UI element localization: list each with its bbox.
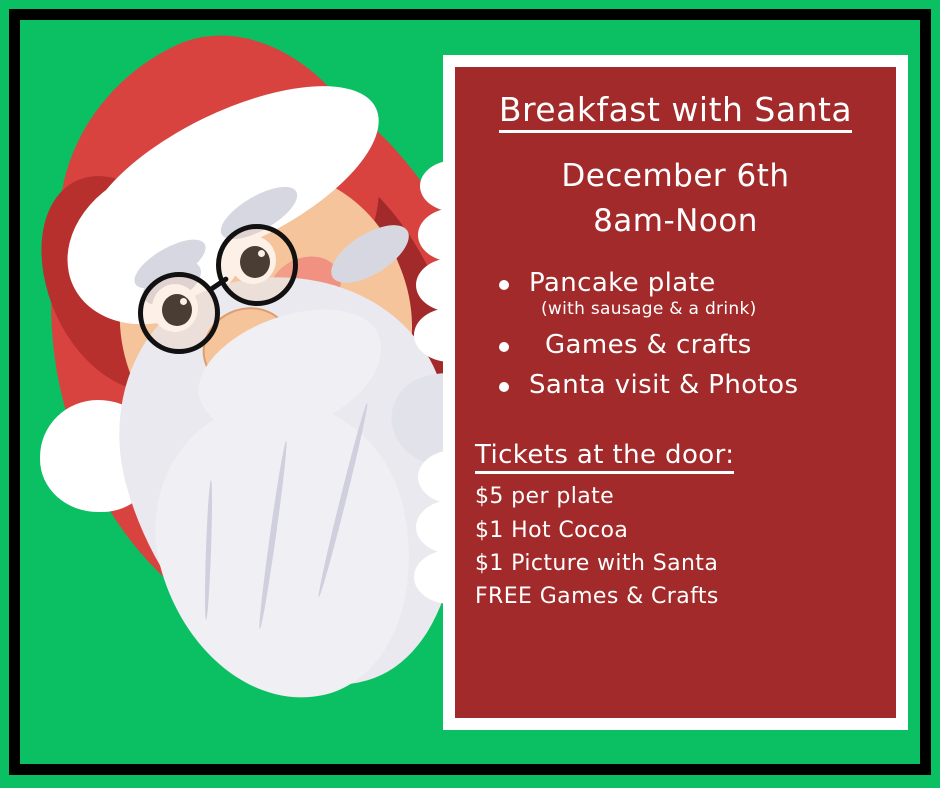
event-card-panel: Breakfast with Santa December 6th 8am-No… bbox=[455, 67, 896, 718]
feature-label: Santa visit & Photos bbox=[529, 370, 798, 400]
santa-glasses-lens-right bbox=[216, 224, 298, 306]
event-date-line-1: December 6th bbox=[475, 157, 876, 197]
bullet-dot-icon bbox=[499, 342, 509, 352]
list-item: Pancake plate (with sausage & a drink) bbox=[475, 268, 876, 320]
list-item: Santa visit & Photos bbox=[475, 370, 876, 400]
feature-label: Games & crafts bbox=[545, 330, 752, 360]
list-item: Games & crafts bbox=[475, 330, 876, 360]
price-line: $5 per plate bbox=[475, 480, 876, 513]
poster: Breakfast with Santa December 6th 8am-No… bbox=[0, 0, 940, 788]
price-line: $1 Hot Cocoa bbox=[475, 514, 876, 547]
santa-illustration bbox=[20, 20, 480, 720]
bullet-dot-icon bbox=[499, 280, 509, 290]
tickets-section: Tickets at the door: $5 per plate $1 Hot… bbox=[475, 440, 876, 614]
feature-label: Pancake plate bbox=[529, 268, 716, 298]
santa-glasses-lens-left bbox=[138, 272, 220, 354]
price-line: $1 Picture with Santa bbox=[475, 547, 876, 580]
feature-sublabel: (with sausage & a drink) bbox=[529, 300, 876, 320]
event-title: Breakfast with Santa bbox=[499, 93, 852, 133]
price-line: FREE Games & Crafts bbox=[475, 580, 876, 613]
bullet-dot-icon bbox=[499, 382, 509, 392]
event-features-list: Pancake plate (with sausage & a drink) G… bbox=[475, 268, 876, 400]
poster-content: Breakfast with Santa December 6th 8am-No… bbox=[20, 20, 920, 764]
event-card: Breakfast with Santa December 6th 8am-No… bbox=[443, 55, 908, 730]
tickets-heading: Tickets at the door: bbox=[475, 440, 734, 474]
event-time-line: 8am-Noon bbox=[475, 202, 876, 242]
event-title-wrap: Breakfast with Santa bbox=[475, 93, 876, 133]
